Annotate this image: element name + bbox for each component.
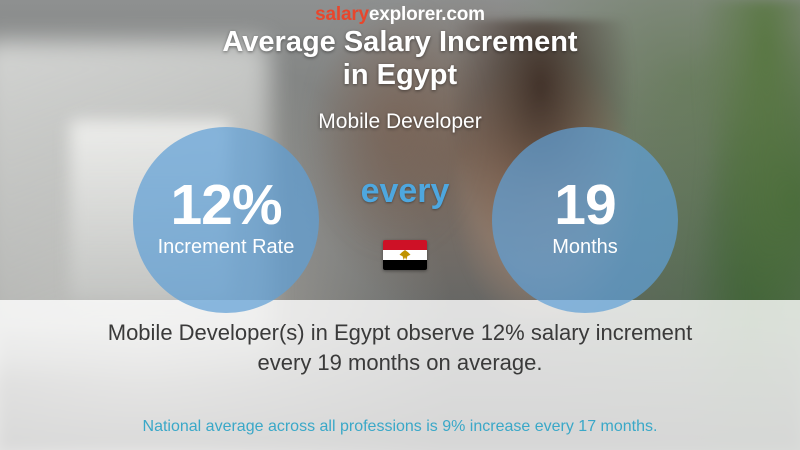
infographic-container: salaryexplorer.com Average Salary Increm…: [0, 0, 800, 450]
page-title-line1: Average Salary Increment: [0, 26, 800, 59]
page-title-line2: in Egypt: [0, 59, 800, 92]
egypt-flag-icon: [383, 240, 427, 270]
brand-name-part2: explorer.com: [369, 4, 485, 25]
every-label: every: [330, 172, 480, 211]
summary-line-1: Mobile Developer(s) in Egypt observe 12%…: [30, 318, 770, 348]
months-value: 19: [554, 176, 615, 234]
months-label: Months: [552, 236, 618, 259]
footnote-text: National average across all professions …: [30, 418, 770, 436]
brand-logo: salaryexplorer.com: [0, 4, 800, 26]
page-title: Average Salary Increment in Egypt: [0, 26, 800, 92]
increment-rate-circle: 12% Increment Rate: [133, 127, 319, 313]
eagle-emblem-icon: [400, 250, 411, 260]
flag-band-black: [383, 260, 427, 270]
increment-rate-label: Increment Rate: [158, 236, 295, 259]
flag-band-red: [383, 240, 427, 250]
summary-text: Mobile Developer(s) in Egypt observe 12%…: [30, 318, 770, 378]
flag-band-white: [383, 250, 427, 260]
summary-line-2: every 19 months on average.: [30, 348, 770, 378]
months-circle: 19 Months: [492, 127, 678, 313]
brand-name-part1: salary: [315, 4, 369, 25]
page-subtitle: Mobile Developer: [0, 110, 800, 134]
increment-rate-value: 12%: [170, 176, 281, 234]
